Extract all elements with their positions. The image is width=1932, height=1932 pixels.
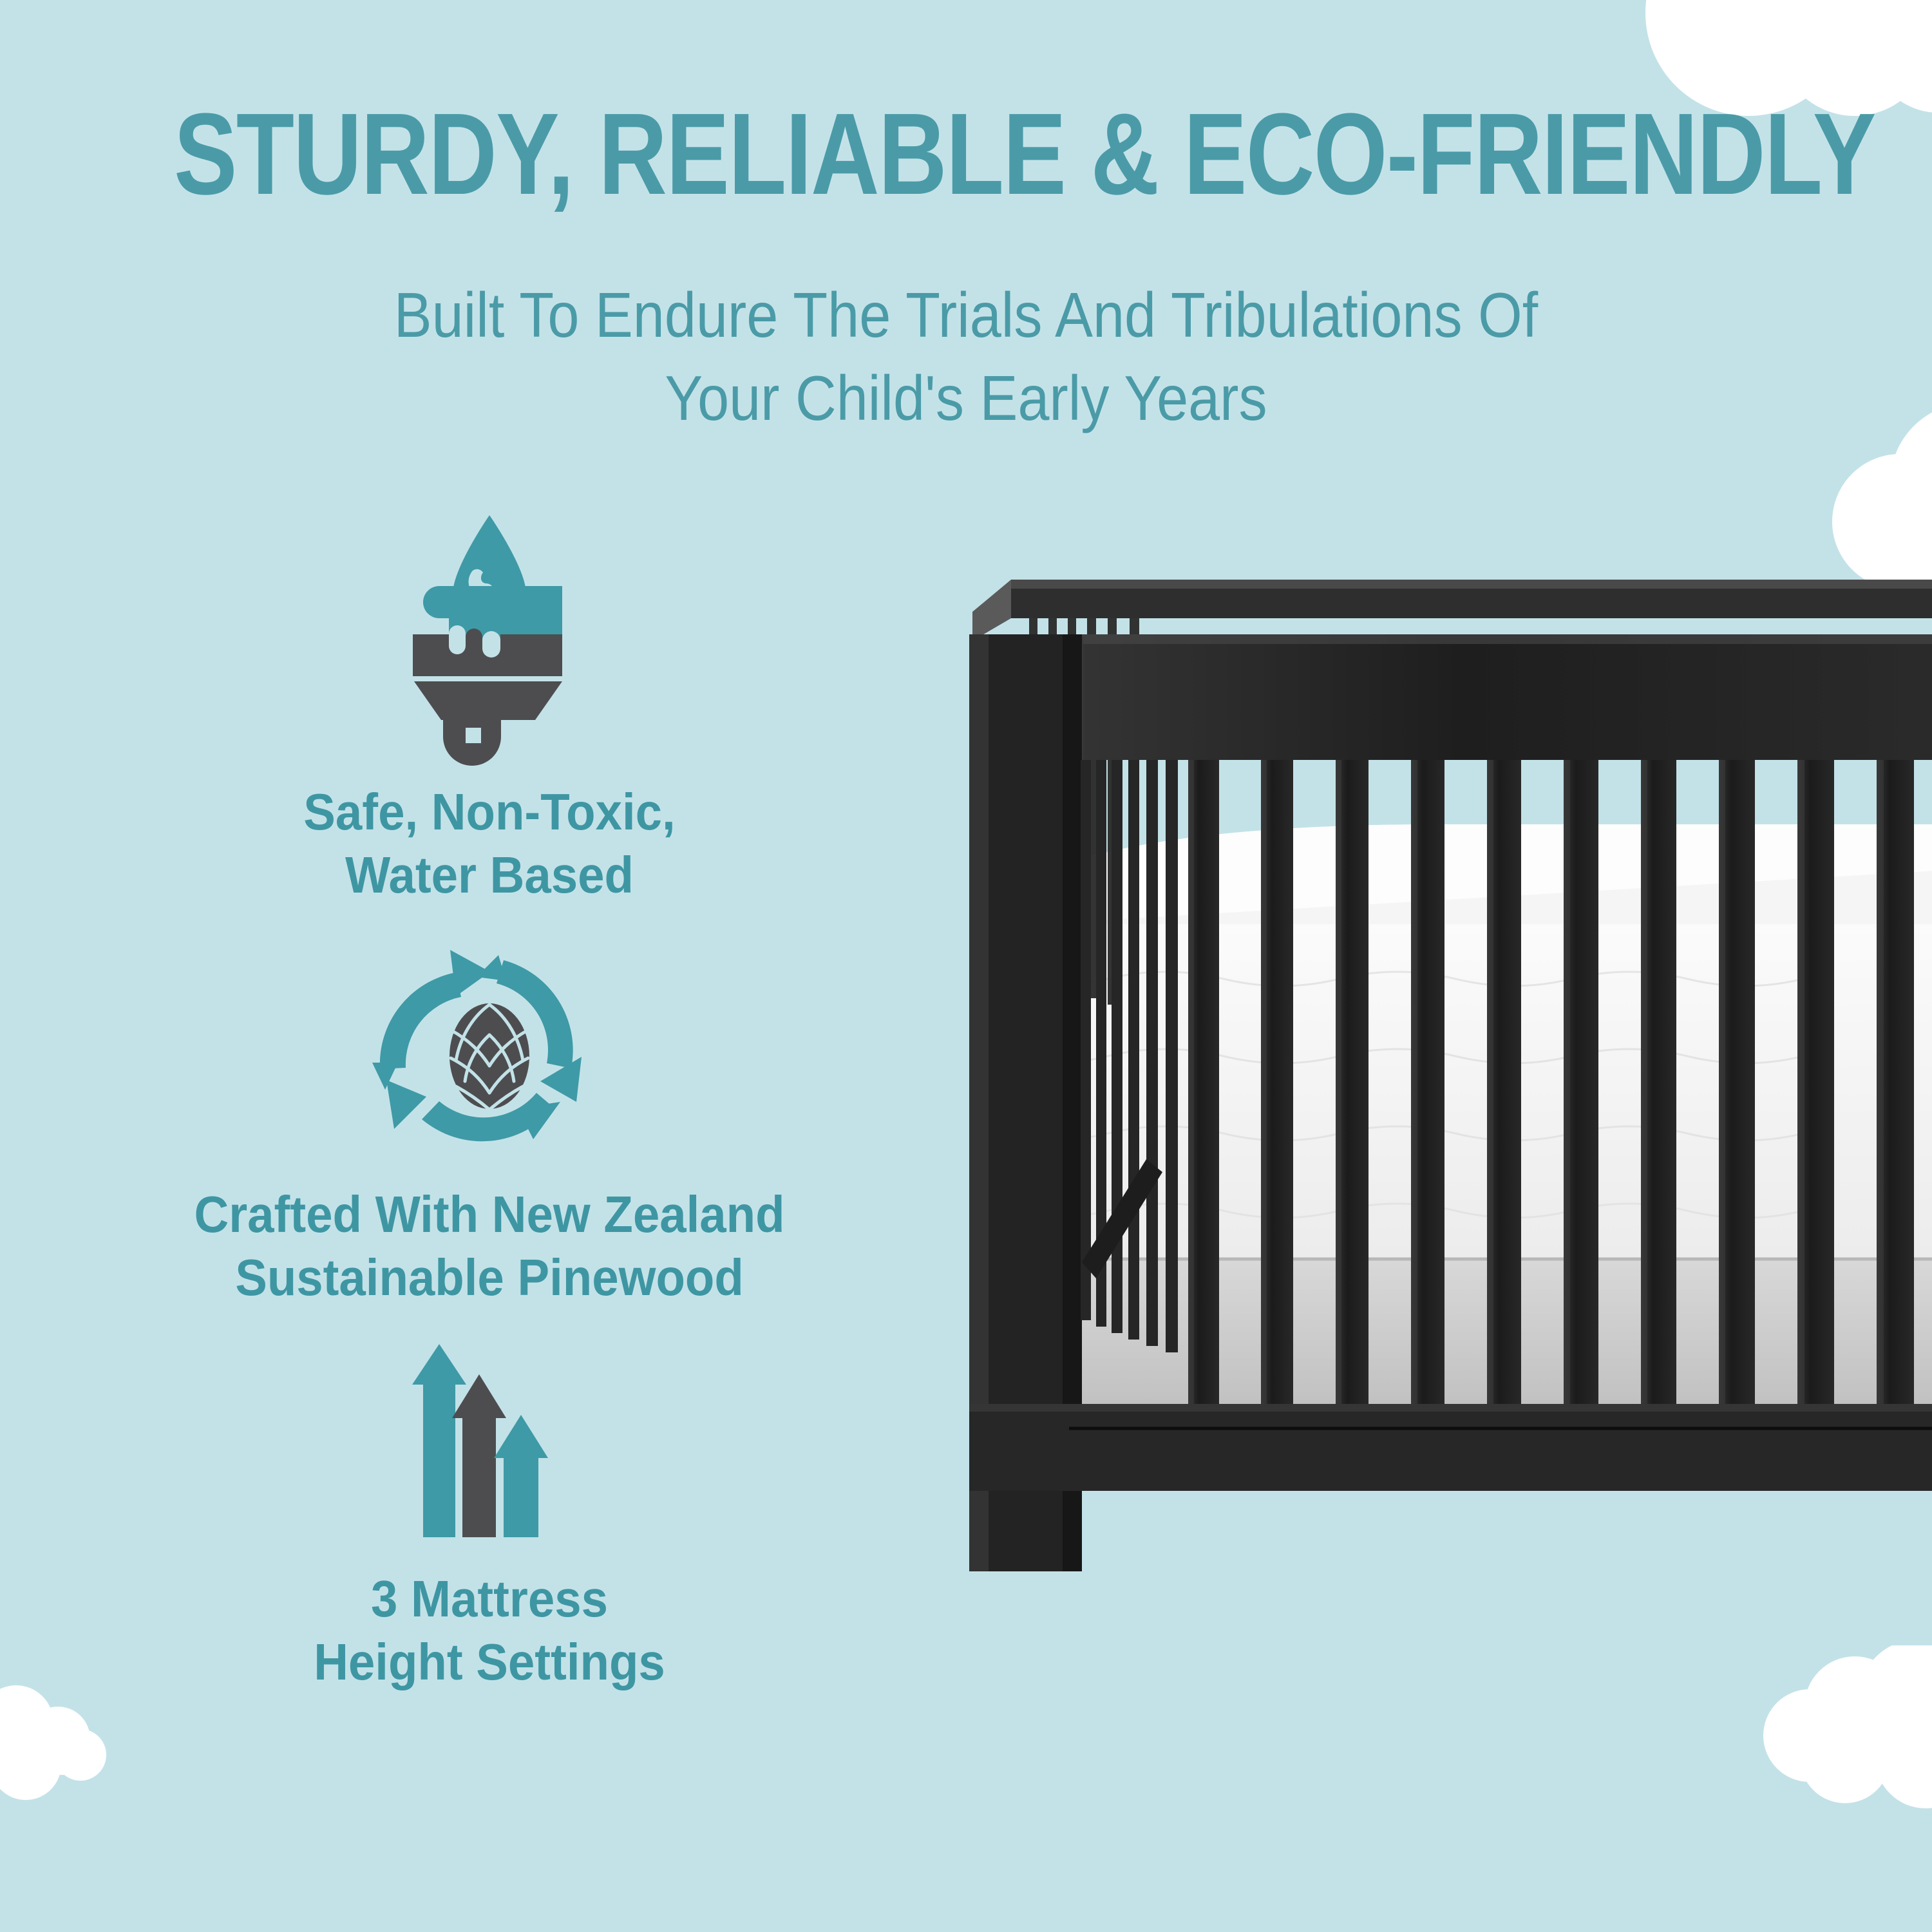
feature-label-line-2: Water Based (100, 844, 879, 907)
feature-item-sustainable-pinewood: Crafted With New Zealand Sustainable Pin… (71, 943, 908, 1309)
page-title: STURDY, RELIABLE & ECO-FRIENDLY (174, 97, 1758, 213)
feature-label-line-1: 3 Mattress (100, 1567, 879, 1631)
crib-product-image (953, 567, 1932, 1571)
feature-label-line-1: Safe, Non-Toxic, (100, 781, 879, 844)
promo-banner: STURDY, RELIABLE & ECO-FRIENDLY Built To… (0, 0, 1932, 1932)
feature-label: 3 Mattress Height Settings (100, 1567, 879, 1693)
feature-label: Safe, Non-Toxic, Water Based (100, 781, 879, 906)
feature-label-line-2: Sustainable Pinewood (100, 1246, 879, 1309)
feature-item-mattress-heights: 3 Mattress Height Settings (71, 1341, 908, 1693)
feature-label: Crafted With New Zealand Sustainable Pin… (100, 1183, 879, 1309)
page-subtitle: Built To Endure The Trials And Tribulati… (97, 274, 1835, 440)
feature-label-line-1: Crafted With New Zealand (100, 1183, 879, 1246)
feature-label-line-2: Height Settings (100, 1631, 879, 1694)
subtitle-line-2: Your Child's Early Years (97, 357, 1835, 440)
cloud-bottom-right (1732, 1645, 1932, 1851)
paint-brush-water-drop-icon (383, 509, 596, 766)
feature-list: Safe, Non-Toxic, Water Based (71, 509, 908, 1710)
subtitle-line-1: Built To Endure The Trials And Tribulati… (97, 274, 1835, 357)
recycle-pinecone-icon (361, 943, 618, 1169)
feature-item-safe-non-toxic: Safe, Non-Toxic, Water Based (71, 509, 908, 906)
three-height-arrows-icon (393, 1341, 586, 1553)
